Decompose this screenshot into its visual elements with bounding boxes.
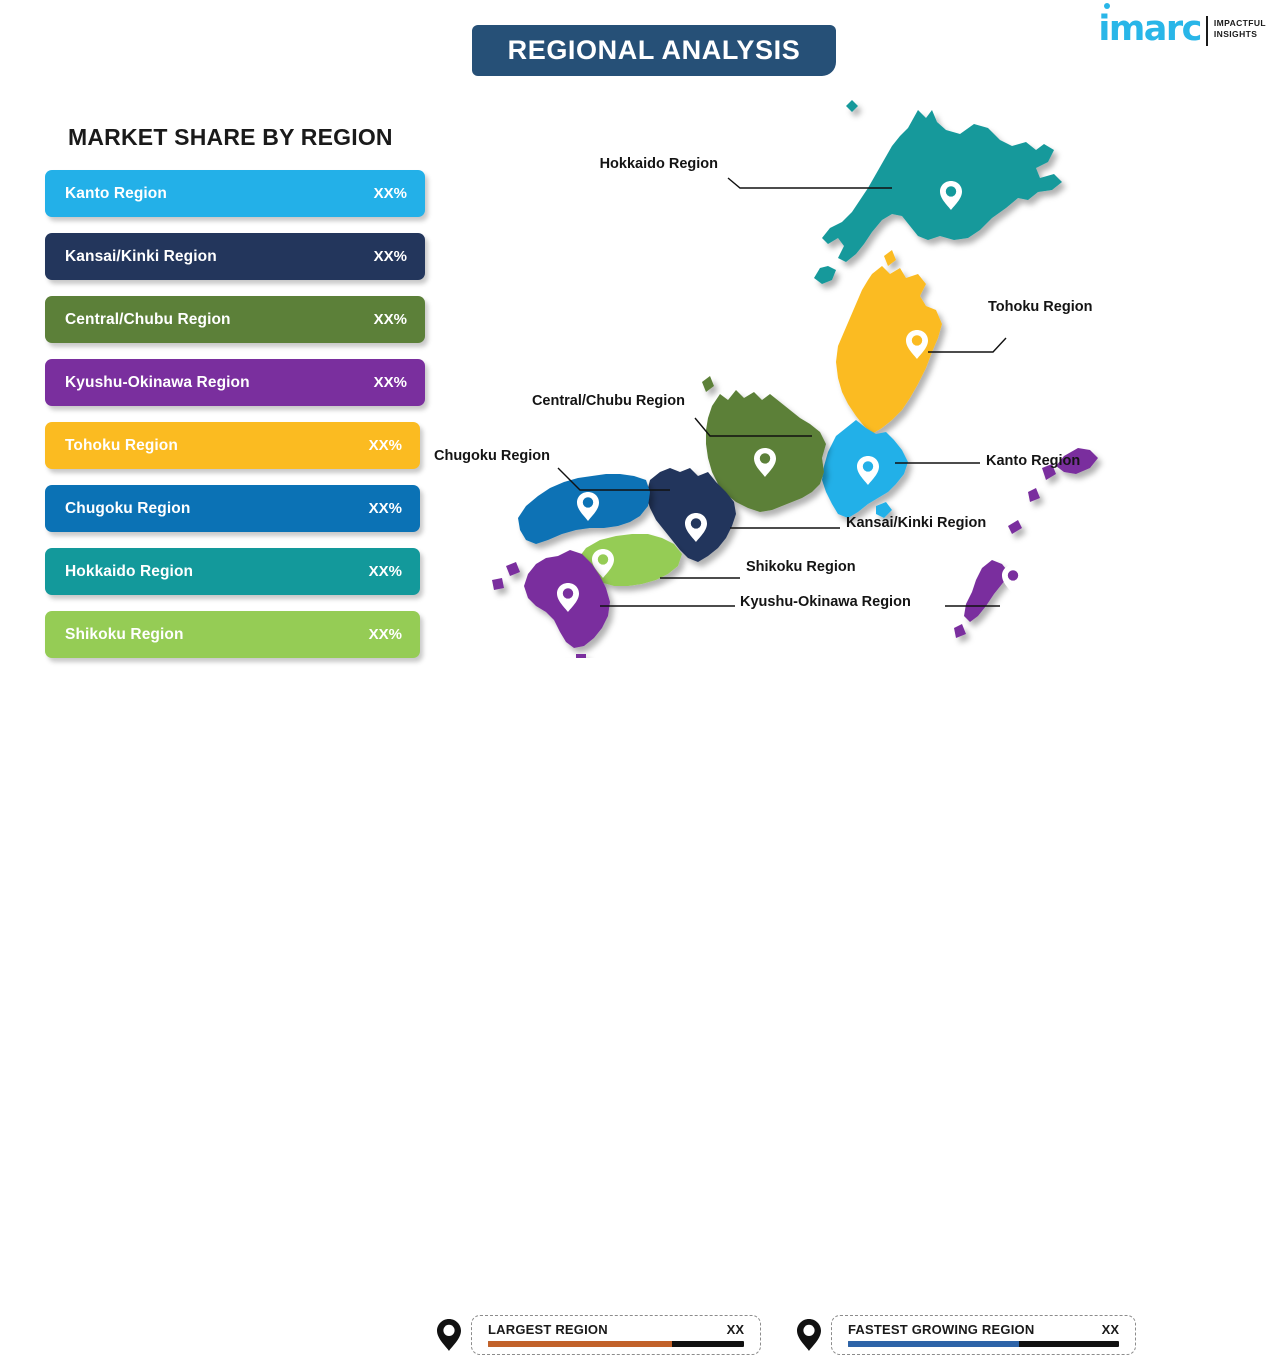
map-label-kanto: Kanto Region — [986, 453, 1080, 469]
largest-region-value: XX — [727, 1322, 744, 1337]
fastest-growing-region-progress — [848, 1341, 1119, 1347]
legend-row-value: XX% — [369, 437, 402, 454]
fastest-growing-region-progress-fill — [848, 1341, 1019, 1347]
fastest-growing-region-value: XX — [1102, 1322, 1119, 1337]
legend-row-label: Hokkaido Region — [65, 563, 193, 581]
fastest-growing-region-box: FASTEST GROWING REGION XX — [831, 1315, 1136, 1355]
page-title-banner: REGIONAL ANALYSIS — [472, 25, 836, 76]
logo-tagline-line2: INSIGHTS — [1214, 29, 1266, 40]
logo-tagline-line1: IMPACTFUL — [1214, 18, 1266, 29]
legend-row-value: XX% — [369, 626, 402, 643]
logo-divider — [1206, 16, 1208, 46]
map-pin-icon — [436, 1318, 462, 1352]
largest-region-badge[interactable]: LARGEST REGION XX — [436, 1315, 761, 1355]
market-share-heading: MARKET SHARE BY REGION — [68, 124, 393, 151]
legend-row[interactable]: Hokkaido RegionXX% — [45, 548, 420, 595]
legend-row-label: Kansai/Kinki Region — [65, 248, 217, 266]
map-label-shikoku: Shikoku Region — [746, 559, 856, 575]
legend-row-label: Tohoku Region — [65, 437, 178, 455]
legend-row-label: Chugoku Region — [65, 500, 190, 518]
market-share-legend-list: Kanto RegionXX%Kansai/Kinki RegionXX%Cen… — [45, 170, 440, 674]
legend-row-value: XX% — [374, 374, 407, 391]
largest-region-progress — [488, 1341, 744, 1347]
legend-row[interactable]: Tohoku RegionXX% — [45, 422, 420, 469]
map-pin-icon — [796, 1318, 822, 1352]
map-label-hokkaido: Hokkaido Region — [600, 156, 718, 172]
legend-row[interactable]: Shikoku RegionXX% — [45, 611, 420, 658]
legend-row-value: XX% — [374, 311, 407, 328]
page-title: REGIONAL ANALYSIS — [508, 35, 801, 66]
map-label-chubu: Central/Chubu Region — [532, 393, 685, 409]
logo-wordmark: imarc — [1098, 12, 1201, 47]
largest-region-header: LARGEST REGION XX — [488, 1322, 744, 1337]
legend-row[interactable]: Chugoku RegionXX% — [45, 485, 420, 532]
logo-tagline: IMPACTFUL INSIGHTS — [1214, 18, 1266, 41]
legend-row-value: XX% — [369, 563, 402, 580]
map-region-hokkaido[interactable] — [814, 100, 1062, 284]
legend-row-label: Shikoku Region — [65, 626, 184, 644]
logo-wordmark-wrap: imarc — [1098, 12, 1201, 47]
footer-badges: LARGEST REGION XX FASTEST GROWING REGION… — [0, 655, 1280, 715]
leader-tohoku — [928, 338, 1006, 352]
legend-row[interactable]: Kyushu-Okinawa RegionXX% — [45, 359, 425, 406]
map-label-tohoku: Tohoku Region — [988, 299, 1092, 315]
map-label-kansai: Kansai/Kinki Region — [846, 515, 986, 531]
legend-row-label: Kyushu-Okinawa Region — [65, 374, 250, 392]
leader-hokkaido — [728, 178, 892, 188]
legend-row-value: XX% — [374, 185, 407, 202]
largest-region-progress-fill — [488, 1341, 672, 1347]
largest-region-box: LARGEST REGION XX — [471, 1315, 761, 1355]
largest-region-title: LARGEST REGION — [488, 1322, 608, 1337]
map-region-okinawa[interactable] — [954, 448, 1098, 638]
japan-map: Hokkaido Region Tohoku Region Kanto Regi… — [440, 88, 1140, 658]
map-pin-okinawa — [1002, 565, 1024, 594]
legend-row-value: XX% — [369, 500, 402, 517]
legend-row[interactable]: Kanto RegionXX% — [45, 170, 425, 217]
map-label-kyushu: Kyushu-Okinawa Region — [740, 594, 911, 610]
imarc-logo: imarc IMPACTFUL INSIGHTS — [1098, 12, 1266, 47]
fastest-growing-region-badge[interactable]: FASTEST GROWING REGION XX — [796, 1315, 1136, 1355]
map-label-chugoku: Chugoku Region — [434, 448, 550, 464]
legend-row[interactable]: Central/Chubu RegionXX% — [45, 296, 425, 343]
legend-row-value: XX% — [374, 248, 407, 265]
fastest-growing-region-title: FASTEST GROWING REGION — [848, 1322, 1034, 1337]
fastest-growing-region-header: FASTEST GROWING REGION XX — [848, 1322, 1119, 1337]
map-region-kyushu[interactable] — [492, 550, 610, 658]
legend-row-label: Central/Chubu Region — [65, 311, 231, 329]
legend-row-label: Kanto Region — [65, 185, 167, 203]
legend-row[interactable]: Kansai/Kinki RegionXX% — [45, 233, 425, 280]
slide-canvas: REGIONAL ANALYSIS imarc IMPACTFUL INSIGH… — [0, 0, 1280, 720]
